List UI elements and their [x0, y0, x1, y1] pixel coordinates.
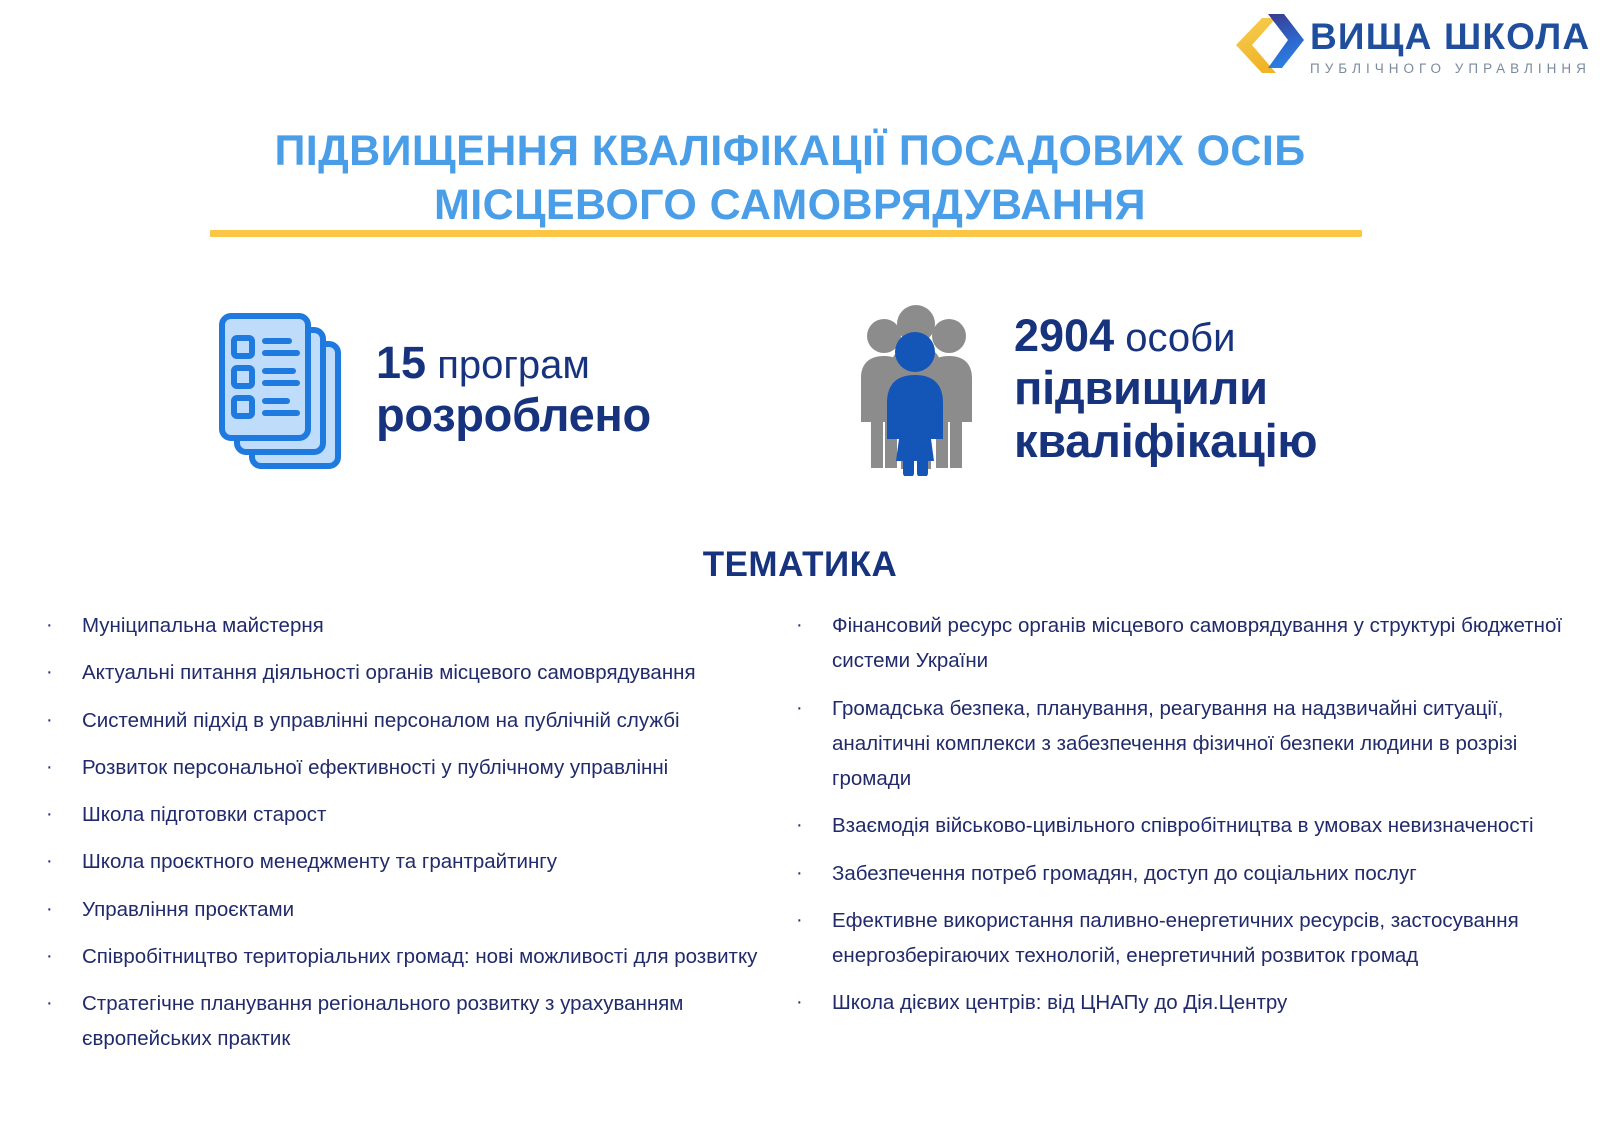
bullet-icon: · [38, 797, 82, 831]
topic-list-item-label: Розвиток персональної ефективності у пуб… [82, 750, 668, 785]
stat-people-caption-line-1: підвищили [1014, 362, 1317, 415]
stat-programs-value-line: 15 програм [376, 336, 651, 389]
topic-list-item-label: Взаємодія військово-цивільного співробіт… [832, 808, 1534, 843]
topic-list-item: ·Системний підхід в управлінні персонало… [38, 703, 778, 738]
bullet-icon: · [38, 939, 82, 973]
topics-column-right: ·Фінансовий ресурс органів місцевого сам… [788, 608, 1588, 1033]
topic-list-item-label: Муніципальна майстерня [82, 608, 324, 643]
topic-list-item: ·Співробітництво територіальних громад: … [38, 939, 778, 974]
logo-title: ВИЩА ШКОЛА [1310, 18, 1591, 55]
topic-list-item: ·Громадська безпека, планування, реагува… [788, 691, 1588, 797]
topic-list-item: ·Забезпечення потреб громадян, доступ до… [788, 856, 1588, 891]
topic-list-item-label: Громадська безпека, планування, реагуван… [832, 691, 1588, 797]
logo-text-block: ВИЩА ШКОЛА ПУБЛІЧНОГО УПРАВЛІННЯ [1310, 16, 1591, 76]
page-title-line-1: ПІДВИЩЕННЯ КВАЛІФІКАЦІЇ ПОСАДОВИХ ОСІБ [200, 124, 1380, 178]
documents-stack-icon [212, 296, 348, 481]
topic-list-item: ·Взаємодія військово-цивільного співробі… [788, 808, 1588, 843]
bullet-icon: · [788, 608, 832, 642]
topic-list-item-label: Забезпечення потреб громадян, доступ до … [832, 856, 1417, 891]
stat-programs-value: 15 [376, 337, 426, 388]
topic-list-item-label: Школа дієвих центрів: від ЦНАПу до Дія.Ц… [832, 985, 1287, 1020]
topic-list-item: ·Школа дієвих центрів: від ЦНАПу до Дія.… [788, 985, 1588, 1020]
bullet-icon: · [38, 655, 82, 689]
topic-list-item: ·Фінансовий ресурс органів місцевого сам… [788, 608, 1588, 679]
page-title: ПІДВИЩЕННЯ КВАЛІФІКАЦІЇ ПОСАДОВИХ ОСІБ М… [200, 124, 1380, 232]
stat-programs-unit: програм [437, 343, 590, 387]
topic-list-item-label: Співробітництво територіальних громад: н… [82, 939, 757, 974]
stat-people-value-line: 2904 особи [1014, 309, 1317, 362]
topic-list-item: ·Школа підготовки старост [38, 797, 778, 832]
people-group-icon [852, 296, 980, 481]
stat-programs-caption: розроблено [376, 389, 651, 442]
topic-list-item-label: Системний підхід в управлінні персоналом… [82, 703, 680, 738]
stat-people: 2904 особи підвищили кваліфікацію [852, 296, 1317, 481]
bullet-icon: · [38, 986, 82, 1020]
topic-list-item-label: Школа проєктного менеджменту та грантрай… [82, 844, 557, 879]
stat-people-caption-line-2: кваліфікацію [1014, 415, 1317, 468]
topic-list-item: ·Ефективне використання паливно-енергети… [788, 903, 1588, 974]
stat-people-value: 2904 [1014, 310, 1114, 361]
topic-list-item-label: Актуальні питання діяльності органів міс… [82, 655, 696, 690]
logo-chevrons-icon [1228, 12, 1304, 80]
bullet-icon: · [788, 691, 832, 725]
stat-people-text: 2904 особи підвищили кваліфікацію [1008, 309, 1317, 467]
bullet-icon: · [38, 844, 82, 878]
stat-people-unit: особи [1125, 316, 1235, 360]
bullet-icon: · [38, 750, 82, 784]
bullet-icon: · [788, 985, 832, 1019]
section-heading: ТЕМАТИКА [0, 545, 1600, 585]
stat-programs-text: 15 програм розроблено [376, 336, 651, 442]
topic-list-item-label: Фінансовий ресурс органів місцевого само… [832, 608, 1588, 679]
stat-programs: 15 програм розроблено [212, 296, 651, 481]
topic-list-item-label: Управління проєктами [82, 892, 294, 927]
bullet-icon: · [788, 856, 832, 890]
infographic-slide: ВИЩА ШКОЛА ПУБЛІЧНОГО УПРАВЛІННЯ ПІДВИЩЕ… [0, 0, 1600, 1131]
topic-list-item-label: Школа підготовки старост [82, 797, 326, 832]
topics-section: ·Муніципальна майстерня·Актуальні питанн… [0, 608, 1600, 1058]
topic-list-item-label: Ефективне використання паливно-енергетич… [832, 903, 1588, 974]
topics-column-left: ·Муніципальна майстерня·Актуальні питанн… [38, 608, 778, 1069]
topic-list-item: ·Муніципальна майстерня [38, 608, 778, 643]
topic-list-item: ·Управління проєктами [38, 892, 778, 927]
topic-list-item: ·Школа проєктного менеджменту та грантра… [38, 844, 778, 879]
logo-subtitle: ПУБЛІЧНОГО УПРАВЛІННЯ [1310, 62, 1591, 76]
bullet-icon: · [38, 608, 82, 642]
title-divider [210, 230, 1362, 237]
topic-list-item: ·Стратегічне планування регіонального ро… [38, 986, 778, 1057]
bullet-icon: · [788, 903, 832, 937]
bullet-icon: · [38, 703, 82, 737]
brand-logo: ВИЩА ШКОЛА ПУБЛІЧНОГО УПРАВЛІННЯ [1228, 6, 1576, 86]
topic-list-item-label: Стратегічне планування регіонального роз… [82, 986, 778, 1057]
topic-list-item: ·Актуальні питання діяльності органів мі… [38, 655, 778, 690]
bullet-icon: · [38, 892, 82, 926]
topic-list-item: ·Розвиток персональної ефективності у пу… [38, 750, 778, 785]
stats-row: 15 програм розроблено [0, 296, 1600, 496]
bullet-icon: · [788, 808, 832, 842]
page-title-line-2: МІСЦЕВОГО САМОВРЯДУВАННЯ [200, 178, 1380, 232]
